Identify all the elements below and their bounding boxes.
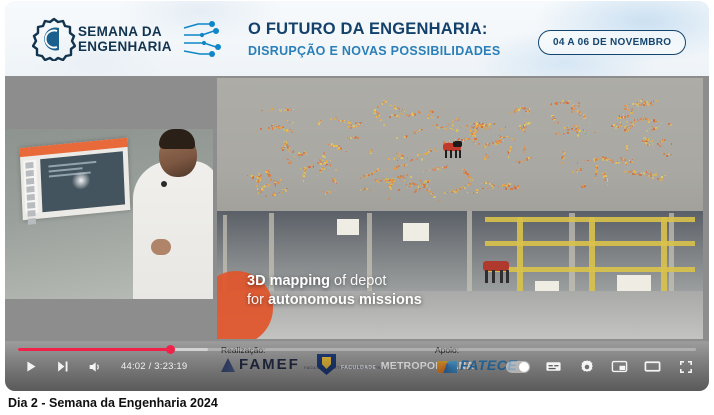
progress-played [18, 348, 171, 351]
logo-line-2: ENGENHARIA [78, 40, 172, 54]
slide-title: O FUTURO DA ENGENHARIA: [248, 20, 578, 39]
lapel-mic-icon [161, 181, 167, 187]
video-title[interactable]: Dia 2 - Semana da Engenharia 2024 [8, 396, 218, 410]
slide-body: 3D mapping of depot for autonomous missi… [5, 76, 709, 341]
video-caption-overlay: 3D mapping of depot for autonomous missi… [247, 272, 577, 311]
semana-engenharia-logo: SEMANA DA ENGENHARIA [32, 11, 210, 67]
projected-slide [20, 138, 131, 220]
time-display: 44:02 / 3:23:19 [121, 361, 187, 372]
volume-icon[interactable] [85, 357, 104, 376]
subtitles-icon[interactable] [544, 357, 563, 376]
slide-title-block: O FUTURO DA ENGENHARIA: DISRUPÇÃO E NOVA… [248, 20, 578, 58]
warehouse-camera-view: 3D mapping of depot for autonomous missi… [217, 211, 703, 339]
circuit-icon [182, 19, 224, 59]
autoplay-toggle-icon[interactable] [506, 361, 530, 373]
settings-gear-icon[interactable] [577, 357, 596, 376]
presenter-hair [159, 129, 195, 149]
caption-line1-bold: 3D mapping [247, 273, 330, 289]
slide-thumbnails-strip [23, 160, 38, 214]
logo-line-1: SEMANA DA [78, 25, 172, 39]
presenter-camera-feed [5, 129, 213, 299]
player-control-bar[interactable]: 44:02 / 3:23:19 [5, 343, 709, 391]
theater-mode-icon[interactable] [643, 357, 662, 376]
caption-line2-bold: autonomous missions [268, 292, 422, 308]
progress-bar[interactable] [18, 348, 696, 351]
slide-header-band: SEMANA DA ENGENHARIA [5, 1, 709, 76]
controls-left-group: 44:02 / 3:23:19 [21, 357, 187, 376]
youtube-watch-page: SEMANA DA ENGENHARIA [0, 0, 714, 415]
play-icon[interactable] [21, 357, 40, 376]
date-badge: 04 A 06 DE NOVEMBRO [538, 30, 686, 55]
controls-right-group [506, 357, 695, 376]
next-video-icon[interactable] [53, 357, 72, 376]
fullscreen-icon[interactable] [676, 357, 695, 376]
logo-wordmark: SEMANA DA ENGENHARIA [78, 25, 172, 54]
caption-line1-rest: of depot [330, 273, 386, 289]
presenter-body [133, 161, 213, 299]
progress-scrubber-handle[interactable] [166, 345, 175, 354]
gear-icon [32, 17, 76, 61]
video-player[interactable]: SEMANA DA ENGENHARIA [5, 1, 709, 391]
presenter-hand [151, 239, 171, 255]
caption-line2-rest: for [247, 292, 268, 308]
miniplayer-icon[interactable] [610, 357, 629, 376]
slide-subtitle: DISRUPÇÃO E NOVAS POSSIBILIDADES [248, 44, 578, 58]
pointcloud-map-view [217, 78, 703, 211]
projected-slide-content [40, 151, 125, 212]
shared-screen-video: 3D mapping of depot for autonomous missi… [217, 78, 703, 339]
